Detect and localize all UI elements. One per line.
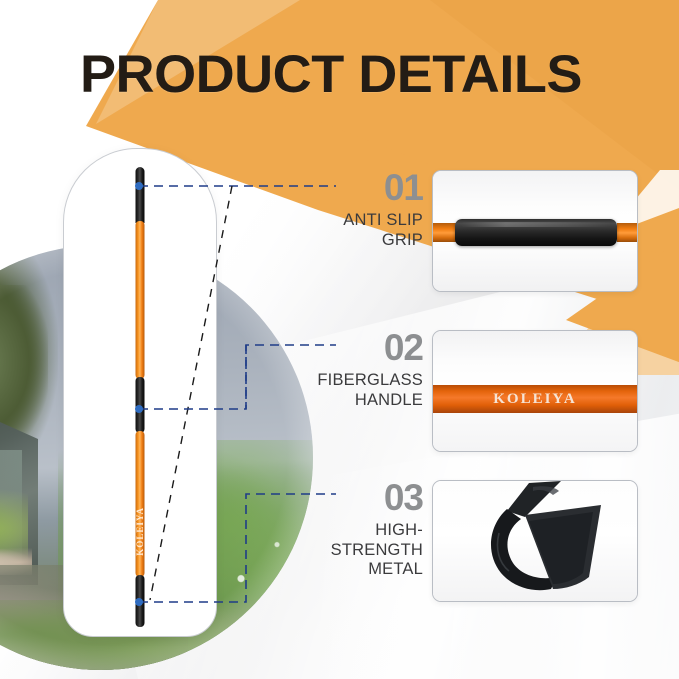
detail-title-02: FIBERGLASS HANDLE — [310, 371, 423, 410]
product-grip-middle — [136, 377, 145, 433]
detail-row-01: 01 ANTI SLIP GRIP — [310, 170, 638, 292]
detail-image-card-01[interactable] — [432, 170, 638, 292]
grip-foam-highlight — [461, 222, 611, 227]
detail-title-02-line1: FIBERGLASS — [310, 371, 423, 390]
detail-title-03-line1: HIGH-STRENGTH — [310, 521, 423, 560]
detail-title-03: HIGH-STRENGTH METAL — [310, 521, 423, 579]
detail-image-card-02[interactable]: KOLEIYA — [432, 330, 638, 452]
detail-row-02: 02 FIBERGLASS HANDLE KOLEIYA — [310, 330, 638, 452]
detail-number-01: 01 — [310, 170, 423, 205]
detail-row-03: 03 HIGH-STRENGTH METAL — [310, 480, 638, 602]
blade-illustration — [433, 481, 637, 601]
detail-label-01: 01 ANTI SLIP GRIP — [310, 170, 432, 250]
detail-title-01-line1: ANTI SLIP — [310, 211, 423, 230]
detail-number-03: 03 — [310, 480, 423, 515]
detail-title-02-line2: HANDLE — [310, 391, 423, 410]
detail-title-01-line2: GRIP — [310, 231, 423, 250]
page-title: PRODUCT DETAILS — [80, 44, 582, 105]
detail-title-03-line2: METAL — [310, 560, 423, 579]
detail-image-card-03[interactable] — [432, 480, 638, 602]
blade-photo — [433, 481, 637, 601]
detail-label-02: 02 FIBERGLASS HANDLE — [310, 330, 432, 410]
handle-photo: KOLEIYA — [433, 331, 637, 451]
detail-label-03: 03 HIGH-STRENGTH METAL — [310, 480, 432, 580]
infographic-stage: KOLEIYA 01 ANTI SLIP GRIP — [0, 0, 679, 679]
product-shaft-lower — [136, 431, 145, 577]
product-shaft-ferrule — [136, 575, 145, 627]
detail-title-01: ANTI SLIP GRIP — [310, 211, 423, 250]
grip-photo — [433, 171, 637, 291]
product-shaft-upper — [136, 221, 145, 379]
product-grip-top — [136, 167, 145, 223]
handle-brand-text: KOLEIYA — [433, 386, 637, 412]
detail-number-02: 02 — [310, 330, 423, 365]
product-image-card: KOLEIYA — [63, 148, 217, 637]
